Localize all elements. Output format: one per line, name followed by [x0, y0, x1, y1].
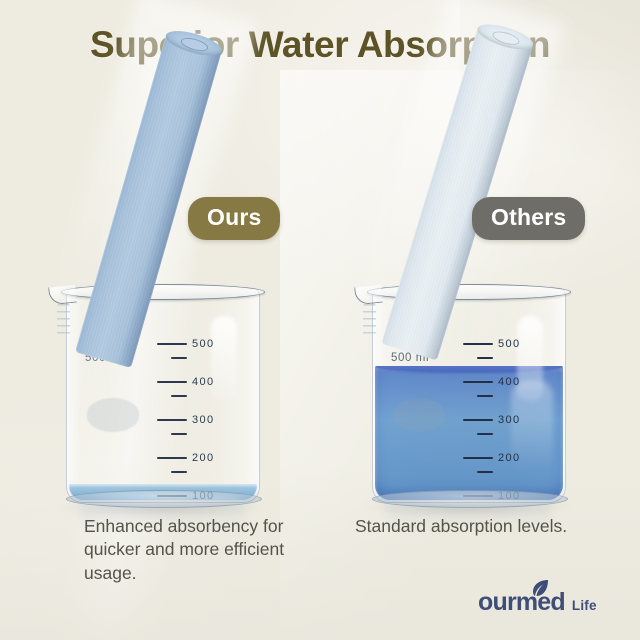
- graduation-value: 300: [498, 414, 521, 426]
- beaker-spout: [48, 285, 77, 306]
- graduation-tick: [477, 395, 493, 397]
- graduation-value: 500: [498, 338, 521, 350]
- beaker-base: [372, 490, 568, 508]
- graduation-value: 400: [498, 376, 521, 388]
- graduation-mark: 500: [157, 338, 215, 350]
- graduation-mark-minor: [463, 433, 493, 435]
- graduation-mark-minor: [157, 433, 187, 435]
- graduation-mark: 300: [157, 414, 215, 426]
- beaker-inner-reflection: [393, 398, 445, 432]
- graduation-tick: [463, 381, 493, 383]
- logo-suffix-text: Life: [572, 598, 597, 613]
- graduation-mark-minor: [157, 357, 187, 359]
- graduation-value: 200: [498, 452, 521, 464]
- graduation-mark-minor: [463, 395, 493, 397]
- graduation-mark-minor: [157, 471, 187, 473]
- graduation-tick: [171, 433, 187, 435]
- badge-others[interactable]: Others: [472, 197, 585, 240]
- graduation-tick: [477, 433, 493, 435]
- graduation-tick: [477, 471, 493, 473]
- beaker-spout-ribs: [57, 304, 70, 334]
- graduation-tick: [463, 419, 493, 421]
- comparison-panel-ours: 500 ml 500 400 300: [0, 120, 320, 520]
- page-title: Superior Water Absorption: [0, 24, 640, 66]
- graduation-value: 400: [192, 376, 215, 388]
- caption-ours: Enhanced absorbency for quicker and more…: [84, 515, 334, 585]
- caption-others: Standard absorption levels.: [355, 515, 605, 538]
- logo-wordmark: ourmed: [478, 588, 565, 617]
- graduation-mark: 200: [463, 452, 521, 464]
- graduation-tick: [171, 395, 187, 397]
- infographic-canvas: Superior Water Absorption 500 ml 500: [0, 0, 640, 640]
- graduation-tick: [477, 357, 493, 359]
- graduation-tick: [157, 419, 187, 421]
- comparison-panel-others: 500 ml 500 400 300: [320, 120, 640, 520]
- graduation-mark: 200: [157, 452, 215, 464]
- beaker-inner-reflection: [87, 398, 139, 432]
- graduation-mark: 400: [157, 376, 215, 388]
- graduation-mark: 300: [463, 414, 521, 426]
- beaker-spout-ribs: [363, 304, 376, 334]
- graduation-value: 200: [192, 452, 215, 464]
- graduation-mark: 500: [463, 338, 521, 350]
- beaker-spout: [354, 285, 383, 306]
- beaker-graduation-scale: 500 400 300 200: [157, 338, 253, 496]
- beaker-base: [66, 490, 262, 508]
- graduation-mark: 400: [463, 376, 521, 388]
- brand-logo[interactable]: ourmed Life: [478, 588, 597, 617]
- graduation-value: 300: [192, 414, 215, 426]
- badge-ours[interactable]: Ours: [188, 197, 280, 240]
- graduation-tick: [157, 381, 187, 383]
- graduation-value: 500: [192, 338, 215, 350]
- graduation-mark-minor: [157, 395, 187, 397]
- graduation-mark-minor: [463, 357, 493, 359]
- beaker-graduation-scale: 500 400 300 200: [463, 338, 559, 496]
- logo-brand-text: ourmed: [478, 588, 565, 616]
- leaf-icon: [530, 575, 550, 604]
- graduation-tick: [171, 357, 187, 359]
- graduation-tick: [171, 471, 187, 473]
- graduation-tick: [463, 457, 493, 459]
- graduation-tick: [463, 343, 493, 345]
- graduation-mark-minor: [463, 471, 493, 473]
- graduation-tick: [157, 343, 187, 345]
- graduation-tick: [157, 457, 187, 459]
